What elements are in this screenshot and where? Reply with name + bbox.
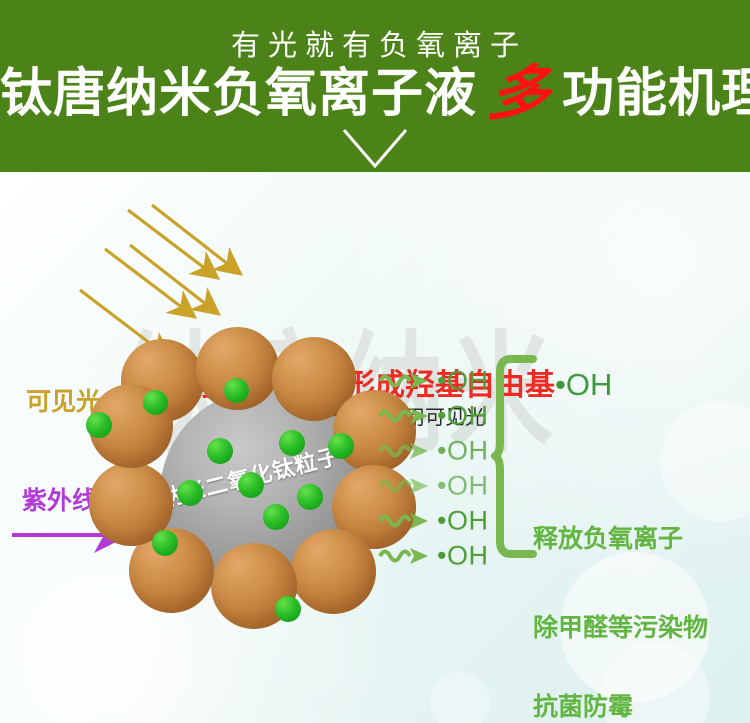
- benefit-label-release-anions: 释放负氧离子: [533, 527, 683, 552]
- coating-sphere: [291, 529, 376, 614]
- header-banner: 有光就有负氧离子 钛唐纳米负氧离子液多功能机理: [0, 0, 750, 172]
- poster-root: 有光就有负氧离子 钛唐纳米负氧离子液多功能机理 钛唐纳米 高能电子也会形成羟基自…: [0, 0, 750, 723]
- dopant-dot: [177, 480, 203, 506]
- oh-emission-row: •OH: [378, 434, 488, 466]
- title-accent-character: 多: [473, 64, 566, 124]
- title-part-one: 钛唐纳米负氧离子液: [0, 65, 477, 123]
- oh-emission-row: •OH: [378, 364, 488, 396]
- uv-light-label: 紫外线: [22, 489, 97, 514]
- dopant-dot: [328, 433, 354, 459]
- oh-label: •OH: [437, 540, 488, 570]
- dopant-dot: [238, 472, 264, 498]
- oh-emission-row: •OH: [378, 539, 488, 571]
- diagram-stage: 钛唐纳米 高能电子也会形成羟基自由基•OH 钛唐光催化技术充分利用可见光 可见光…: [0, 172, 750, 723]
- dopant-dot: [275, 596, 301, 622]
- oh-emission-row: •OH: [378, 469, 488, 501]
- wavy-arrow-icon: [378, 509, 434, 533]
- title-part-two: 功能机理: [562, 65, 750, 123]
- page-title: 钛唐纳米负氧离子液多功能机理: [0, 64, 750, 124]
- oh-label: •OH: [437, 470, 488, 500]
- bokeh-circle: [90, 622, 180, 712]
- wavy-arrow-icon: [378, 474, 434, 498]
- wavy-arrow-icon: [378, 544, 434, 568]
- dopant-dot: [297, 484, 323, 510]
- header-subtitle: 有光就有负氧离子: [0, 22, 750, 64]
- oh-emission-row: •OH: [378, 504, 488, 536]
- bokeh-circle: [430, 672, 490, 723]
- dopant-dot: [263, 504, 289, 530]
- dopant-dot: [224, 378, 249, 403]
- wavy-arrow-icon: [378, 369, 434, 393]
- wavy-arrow-icon: [378, 404, 434, 428]
- dopant-dot: [143, 390, 168, 415]
- wavy-arrow-icon: [378, 439, 434, 463]
- benefit-label-antibacterial: 抗菌防霉: [533, 695, 633, 720]
- visible-light-label: 可见光: [26, 390, 101, 415]
- dopant-dot: [86, 412, 112, 438]
- dopant-dot: [207, 438, 233, 464]
- chevron-down-icon: [340, 128, 410, 170]
- bokeh-circle: [660, 402, 750, 522]
- oh-label: •OH: [437, 400, 488, 430]
- benefit-label-remove-formaldehyde: 除甲醛等污染物: [533, 616, 708, 641]
- dopant-dot: [152, 530, 178, 556]
- oh-emission-row: •OH: [378, 399, 488, 431]
- headline-oh-text: •OH: [555, 367, 612, 402]
- oh-label: •OH: [437, 365, 488, 395]
- oh-label: •OH: [437, 435, 488, 465]
- oh-label: •OH: [437, 505, 488, 535]
- dopant-dot: [279, 430, 305, 456]
